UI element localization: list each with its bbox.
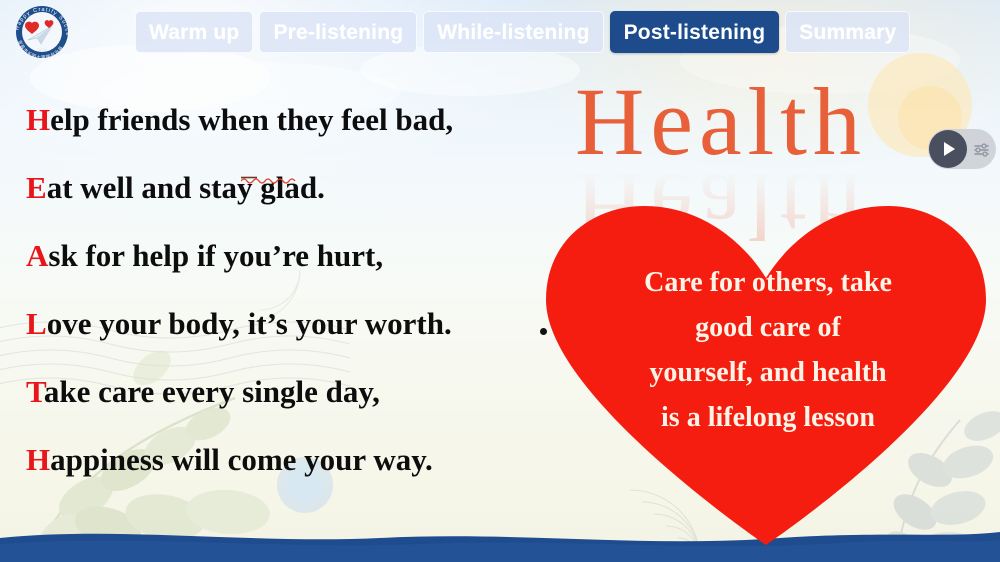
poem-line-initial: E	[26, 170, 47, 205]
poem-line: Love your body, it’s your worth.	[26, 290, 566, 358]
slide-canvas: Happy Cratify Successful 宜昌市长阳土家族自治县 202…	[0, 0, 1000, 562]
poem-line-initial: L	[26, 306, 47, 341]
poem-line-initial: A	[26, 238, 48, 273]
heart-message: Care for others, take good care of yours…	[598, 260, 938, 440]
poem-line-initial: H	[26, 102, 50, 137]
heart-callout: Care for others, take good care of yours…	[540, 200, 992, 545]
poem-line: Eat well and stay glad.	[26, 154, 566, 222]
poem-line-body: at well and stay glad.	[47, 170, 325, 205]
slide-header: Happy Cratify Successful 宜昌市长阳土家族自治县 202…	[0, 0, 1000, 62]
poem-line-initial: T	[26, 374, 44, 409]
tab-summary[interactable]: Summary	[785, 11, 910, 53]
media-player-widget[interactable]	[928, 129, 996, 169]
tab-post-listening[interactable]: Post-listening	[610, 11, 780, 53]
poem-line: Ask for help if you’re hurt,	[26, 222, 566, 290]
section-tabs[interactable]: Warm up Pre-listening While-listening Po…	[135, 11, 910, 53]
poem-line-body: elp friends when they feel bad,	[50, 102, 453, 137]
poem-line: Take care every single day,	[26, 358, 566, 426]
poem-line-initial: H	[26, 442, 50, 477]
poem-line-body: ake care every single day,	[44, 374, 380, 409]
tab-while-listening[interactable]: While-listening	[423, 11, 603, 53]
heart-message-line: good care of	[598, 305, 938, 350]
school-crest-logo: Happy Cratify Successful 宜昌市长阳土家族自治县 202…	[8, 2, 76, 60]
acrostic-poem: Help friends when they feel bad, Eat wel…	[26, 86, 566, 494]
poem-line-body: sk for help if you’re hurt,	[48, 238, 383, 273]
heart-message-line: is a lifelong lesson	[598, 395, 938, 440]
poem-line: Help friends when they feel bad,	[26, 86, 566, 154]
settings-sliders-icon[interactable]	[973, 141, 990, 158]
play-icon[interactable]	[929, 130, 967, 168]
svg-text:2020: 2020	[38, 48, 47, 52]
heart-message-line: yourself, and health	[598, 350, 938, 395]
stray-bullet-dot	[540, 328, 547, 335]
poem-line: Happiness will come your way.	[26, 426, 566, 494]
heart-message-line: Care for others, take	[598, 260, 938, 305]
health-wordart-text: Health	[575, 76, 867, 167]
tab-warm-up[interactable]: Warm up	[135, 11, 253, 53]
poem-line-body: ove your body, it’s your worth.	[47, 306, 452, 341]
tab-pre-listening[interactable]: Pre-listening	[259, 11, 417, 53]
poem-line-body: appiness will come your way.	[50, 442, 433, 477]
